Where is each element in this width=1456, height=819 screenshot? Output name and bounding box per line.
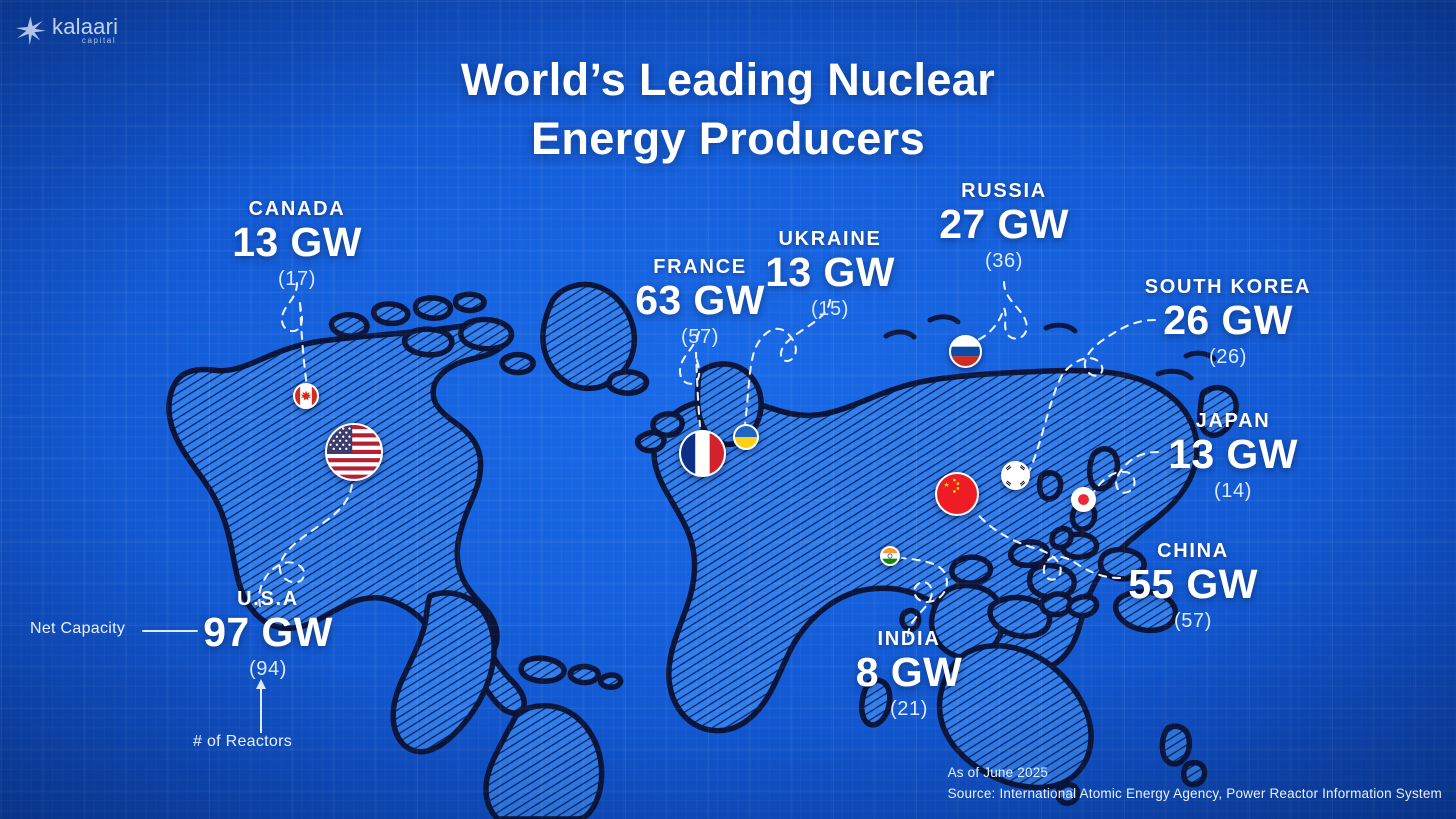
label-russia-country: RUSSIA bbox=[916, 180, 1092, 202]
label-japan-reactors: (14) bbox=[1143, 476, 1323, 506]
page-title: World’s Leading Nuclear Energy Producers bbox=[0, 50, 1456, 169]
footer-source: Source: International Atomic Energy Agen… bbox=[948, 783, 1442, 805]
label-japan: JAPAN 13 GW (14) bbox=[1143, 410, 1323, 506]
net-capacity-annotation: Net Capacity bbox=[30, 620, 125, 638]
label-ukraine: UKRAINE 13 GW (15) bbox=[745, 228, 915, 324]
label-china: CHINA 55 GW (57) bbox=[1097, 540, 1289, 636]
flag-south-korea-icon[interactable] bbox=[1001, 461, 1030, 490]
label-russia-capacity: 27 GW bbox=[916, 202, 1092, 246]
flag-ukraine-icon[interactable] bbox=[733, 424, 759, 450]
reactor-count-annotation: # of Reactors bbox=[193, 733, 292, 751]
label-south-korea-capacity: 26 GW bbox=[1125, 298, 1331, 342]
label-china-reactors: (57) bbox=[1097, 606, 1289, 636]
label-usa: U.S.A 97 GW (94) bbox=[178, 588, 358, 684]
title-line-1: World’s Leading Nuclear bbox=[461, 54, 995, 105]
kalaari-capital-logo[interactable]: kalaari capital bbox=[14, 14, 118, 48]
label-russia: RUSSIA 27 GW (36) bbox=[916, 180, 1092, 276]
label-canada-capacity: 13 GW bbox=[197, 220, 397, 264]
label-russia-reactors: (36) bbox=[916, 246, 1092, 276]
label-south-korea: SOUTH KOREA 26 GW (26) bbox=[1125, 276, 1331, 372]
flag-japan-icon[interactable] bbox=[1071, 487, 1096, 512]
label-canada-country: CANADA bbox=[197, 198, 397, 220]
label-ukraine-capacity: 13 GW bbox=[745, 250, 915, 294]
label-ukraine-country: UKRAINE bbox=[745, 228, 915, 250]
label-china-country: CHINA bbox=[1097, 540, 1289, 562]
label-canada-reactors: (17) bbox=[197, 264, 397, 294]
reactor-count-pointer-arrow bbox=[250, 677, 272, 733]
net-capacity-pointer-line bbox=[142, 630, 198, 632]
flag-russia-icon[interactable] bbox=[949, 335, 982, 368]
flag-china-icon[interactable] bbox=[935, 472, 979, 516]
flag-canada-icon[interactable] bbox=[293, 383, 319, 409]
label-japan-country: JAPAN bbox=[1143, 410, 1323, 432]
label-france-reactors: (57) bbox=[600, 322, 800, 352]
logo-subtext: capital bbox=[52, 37, 118, 45]
label-india: INDIA 8 GW (21) bbox=[828, 628, 990, 724]
infographic-canvas: kalaari capital World’s Leading Nuclear … bbox=[0, 0, 1456, 819]
flag-india-icon[interactable] bbox=[880, 546, 900, 566]
label-india-capacity: 8 GW bbox=[828, 650, 990, 694]
star-logo-icon bbox=[14, 14, 48, 48]
label-canada: CANADA 13 GW (17) bbox=[197, 198, 397, 294]
leader-line-russia bbox=[968, 282, 1027, 344]
label-usa-country: U.S.A bbox=[178, 588, 358, 610]
label-japan-capacity: 13 GW bbox=[1143, 432, 1323, 476]
label-china-capacity: 55 GW bbox=[1097, 562, 1289, 606]
title-line-2: Energy Producers bbox=[0, 109, 1456, 168]
label-india-reactors: (21) bbox=[828, 694, 990, 724]
label-ukraine-reactors: (15) bbox=[745, 294, 915, 324]
flag-usa-icon[interactable] bbox=[325, 423, 383, 481]
label-south-korea-country: SOUTH KOREA bbox=[1125, 276, 1331, 298]
label-usa-capacity: 97 GW bbox=[178, 610, 358, 654]
footer-as-of: As of June 2025 bbox=[948, 762, 1442, 784]
logo-wordmark: kalaari bbox=[52, 17, 118, 38]
flag-france-icon[interactable] bbox=[679, 430, 726, 477]
label-south-korea-reactors: (26) bbox=[1125, 342, 1331, 372]
label-india-country: INDIA bbox=[828, 628, 990, 650]
footer-source-block: As of June 2025 Source: International At… bbox=[948, 762, 1442, 805]
